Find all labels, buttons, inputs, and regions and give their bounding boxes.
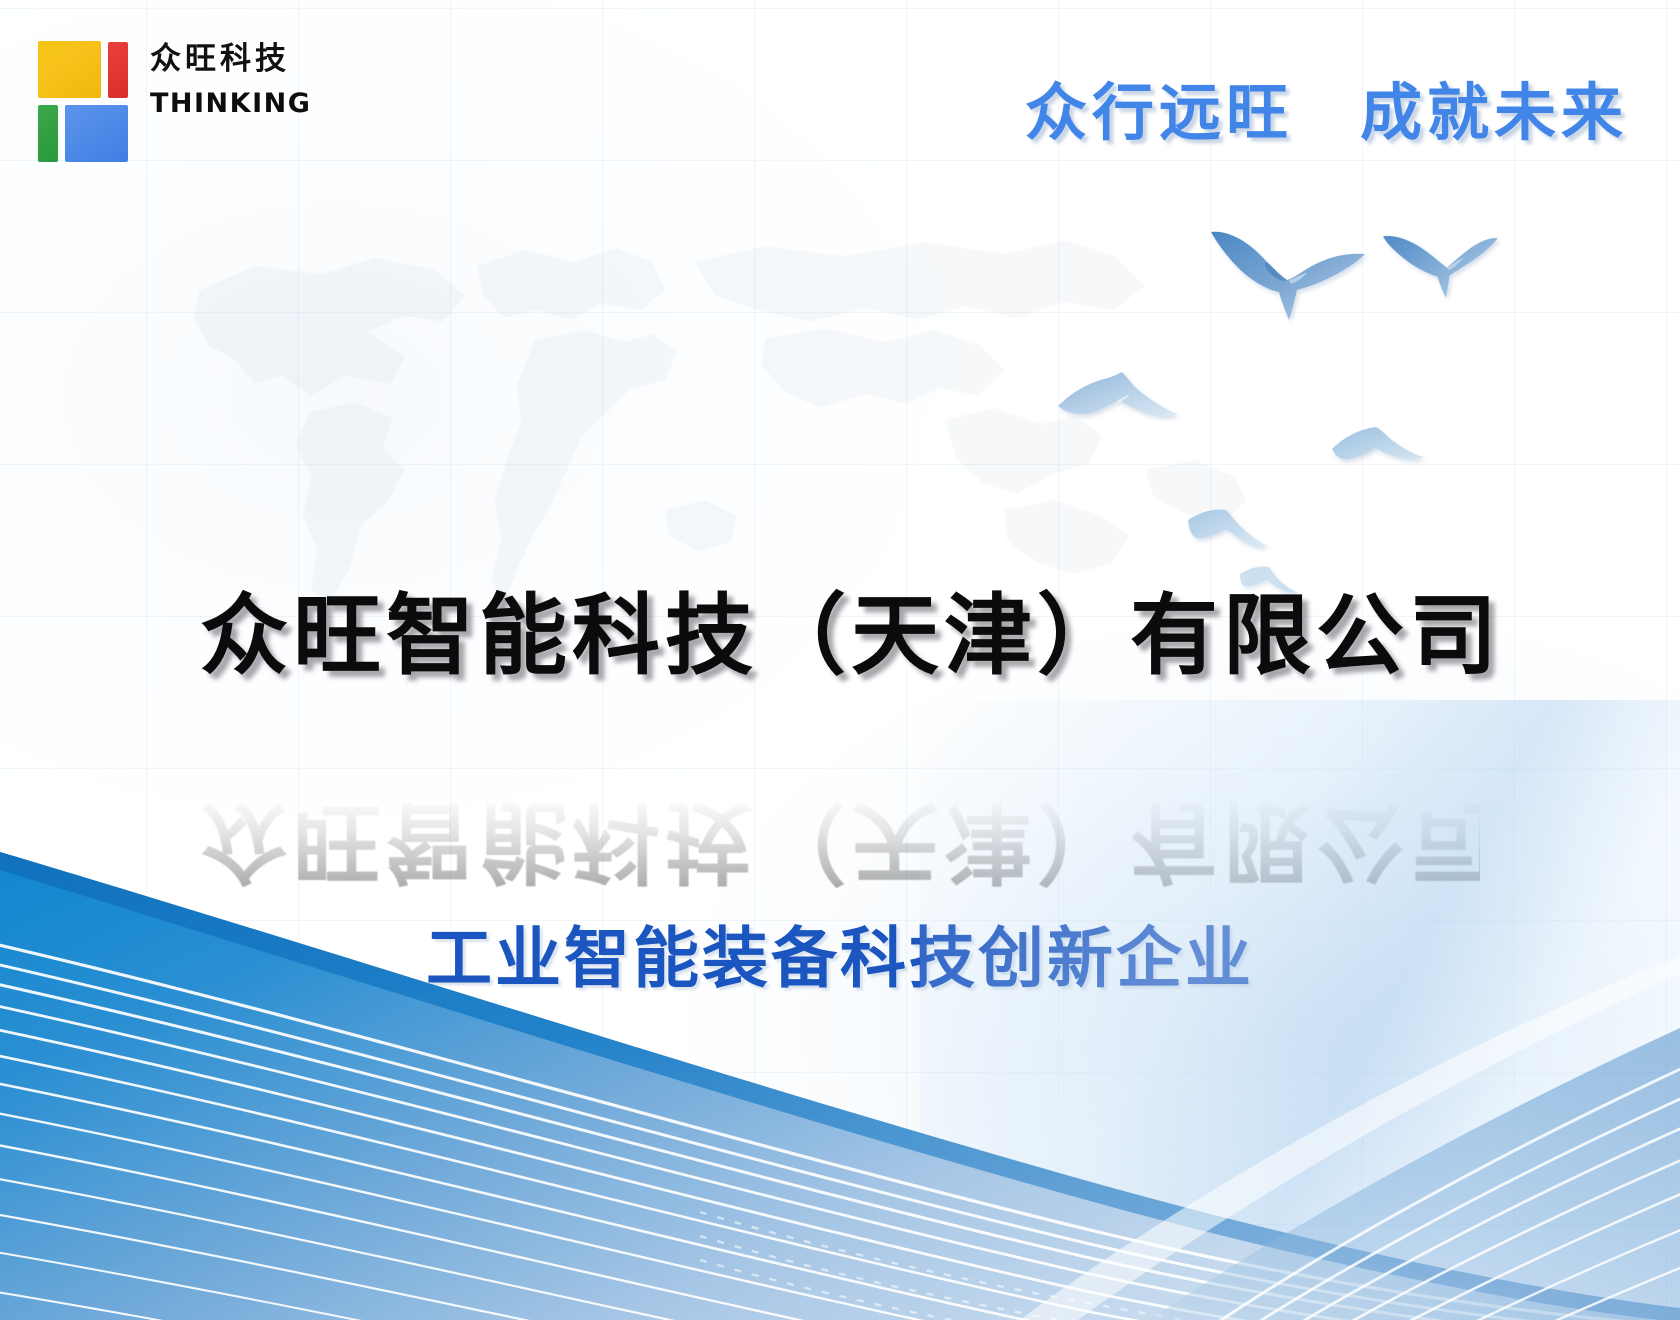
- logo-green-block-icon: [38, 105, 58, 162]
- subtitle-wrap: 工业智能装备科技创新企业: [0, 905, 1680, 1001]
- logo-name-en: THINKING: [150, 88, 320, 119]
- slide-header: 众旺科技 THINKING 众行远旺 成就未来: [0, 0, 1680, 190]
- flying-seagull-icon: [1205, 222, 1375, 332]
- logo-red-block-icon: [108, 42, 128, 98]
- page-title: 众旺智能科技（天津）有限公司: [200, 585, 1480, 686]
- flying-seagull-icon: [1378, 216, 1507, 306]
- header-tagline: 众行远旺 成就未来: [1025, 62, 1628, 152]
- page-subtitle: 工业智能装备科技创新企业: [426, 920, 1254, 997]
- logo-blocks-icon: [38, 41, 138, 151]
- logo-blue-block-icon: [65, 105, 128, 162]
- flying-seagull-icon: [1056, 362, 1180, 440]
- company-logo[interactable]: 众旺科技 THINKING: [30, 28, 320, 158]
- flying-seagull-icon: [1186, 500, 1270, 554]
- logo-wordmark: 众旺科技 THINKING: [150, 42, 320, 119]
- flying-seagull-icon: [1330, 415, 1426, 475]
- logo-name-cn: 众旺科技: [150, 42, 320, 76]
- logo-yellow-block-icon: [38, 41, 101, 98]
- page-title-reflection: 众旺智能科技（天津）有限公司: [200, 791, 1480, 892]
- title-group: 众旺智能科技（天津）有限公司 众旺智能科技（天津）有限公司: [0, 585, 1680, 795]
- title-slide: 众旺科技 THINKING 众行远旺 成就未来: [0, 0, 1680, 1320]
- wave-ribbon-icon: [0, 760, 1680, 1320]
